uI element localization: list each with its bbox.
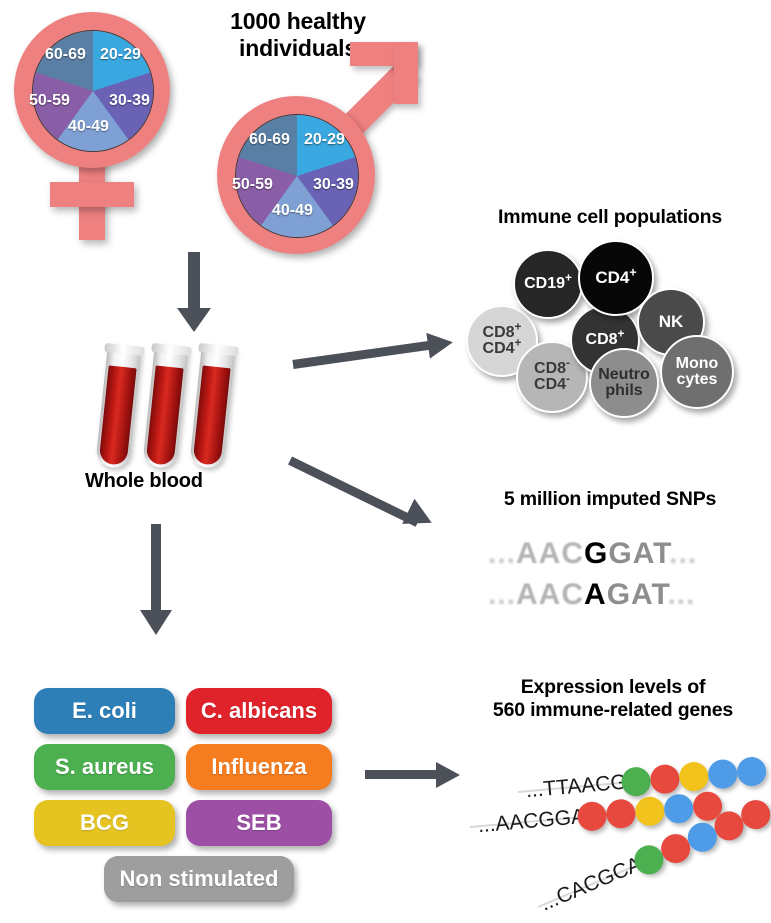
- arrow-shaft: [292, 340, 438, 369]
- snp-left: AAC: [516, 537, 584, 570]
- expression-bead: [663, 793, 694, 824]
- snp-prefix: ...: [488, 537, 516, 570]
- blood-tube: [95, 343, 142, 469]
- cell-label-line2: phils: [598, 383, 650, 399]
- expression-title-line2: 560 immune-related genes: [455, 699, 771, 722]
- cell-label: NK: [659, 313, 684, 330]
- cell-cd19pos: CD19+: [513, 249, 583, 319]
- stimulation-chip-c-albicans[interactable]: C. albicans: [186, 688, 332, 734]
- expression-bead: [678, 761, 709, 792]
- stimulation-chip-non-stimulated[interactable]: Non stimulated: [104, 856, 294, 902]
- snp-suffix: ...: [667, 578, 695, 611]
- pie-label-50-59: 50-59: [29, 92, 70, 110]
- pie-label-60-69: 60-69: [45, 46, 86, 64]
- cell-label-line1: Neutro: [598, 367, 650, 383]
- pie-label-40-49: 40-49: [68, 118, 109, 136]
- snp-variant: G: [584, 537, 608, 570]
- snp-variant: A: [584, 578, 607, 611]
- cell-label: CD4+: [595, 269, 636, 286]
- expression-section-title: Expression levels of 560 immune-related …: [455, 676, 771, 722]
- snp-right: GAT: [608, 537, 669, 570]
- pie-label-20-29: 20-29: [304, 131, 345, 149]
- cell-label-line2: CD4-: [534, 377, 570, 393]
- cell-label-line1: Mono: [676, 356, 719, 372]
- pie-label-30-39: 30-39: [313, 176, 354, 194]
- female-stem-horizontal: [50, 182, 134, 207]
- diagram-canvas: 1000 healthy individuals 20-29 30-39 40-…: [0, 0, 771, 922]
- expression-title-line1: Expression levels of: [455, 676, 771, 699]
- snp-right: GAT: [607, 578, 668, 611]
- chip-label: BCG: [80, 810, 129, 836]
- cell-label-line2: cytes: [676, 372, 719, 388]
- expression-bead: [634, 796, 665, 827]
- snp-left: AAC: [516, 578, 584, 611]
- pie-label-40-49: 40-49: [272, 202, 313, 220]
- snp-sequence-row: ...AACGGAT...: [488, 537, 697, 571]
- chip-label: E. coli: [72, 698, 137, 724]
- expression-bead: [605, 798, 636, 829]
- arrow-head: [177, 308, 211, 332]
- arrow-head: [436, 762, 460, 788]
- cell-label: CD8+: [586, 332, 625, 348]
- expression-bead: [707, 758, 738, 789]
- arrow-shaft: [365, 770, 438, 779]
- stimulation-chip-influenza[interactable]: Influenza: [186, 744, 332, 790]
- chip-label: S. aureus: [55, 754, 154, 780]
- chip-label: Non stimulated: [120, 866, 279, 892]
- arrow-head: [402, 499, 438, 536]
- snp-prefix: ...: [488, 578, 516, 611]
- snps-section-title: 5 million imputed SNPs: [455, 488, 765, 511]
- blood-tube: [142, 343, 189, 469]
- expression-bead: [736, 756, 767, 787]
- cell-monocytes: Monocytes: [660, 335, 734, 409]
- cell-label-line2: CD4+: [483, 341, 522, 357]
- stimulation-chip-s-aureus[interactable]: S. aureus: [34, 744, 175, 790]
- cohort-title-line1: 1000 healthy: [178, 8, 418, 35]
- male-arrow-head-side: [394, 42, 418, 104]
- chip-label: C. albicans: [201, 698, 317, 724]
- arrow-shaft: [288, 456, 420, 526]
- stimulation-chip-bcg[interactable]: BCG: [34, 800, 175, 846]
- expression-bead: [649, 763, 680, 794]
- pie-label-20-29: 20-29: [100, 46, 141, 64]
- chip-label: SEB: [236, 810, 281, 836]
- whole-blood-label: Whole blood: [85, 470, 285, 494]
- arrow-head: [140, 610, 172, 635]
- stimulation-chip-e-coli[interactable]: E. coli: [34, 688, 175, 734]
- arrow-head: [426, 329, 454, 358]
- cell-label-line1: CD8-: [534, 361, 570, 377]
- pie-label-60-69: 60-69: [249, 131, 290, 149]
- arrow-shaft: [188, 252, 200, 312]
- snp-suffix: ...: [669, 537, 697, 570]
- cell-label: CD19+: [524, 276, 572, 292]
- pie-label-30-39: 30-39: [109, 92, 150, 110]
- cell-neutrophils: Neutrophils: [589, 348, 659, 418]
- pie-label-50-59: 50-59: [232, 176, 273, 194]
- snp-sequence-row: ...AACAGAT...: [488, 578, 695, 612]
- blood-tube: [189, 343, 236, 469]
- chip-label: Influenza: [211, 754, 306, 780]
- arrow-shaft: [151, 524, 161, 614]
- immune-section-title: Immune cell populations: [455, 206, 765, 229]
- stimulation-chip-seb[interactable]: SEB: [186, 800, 332, 846]
